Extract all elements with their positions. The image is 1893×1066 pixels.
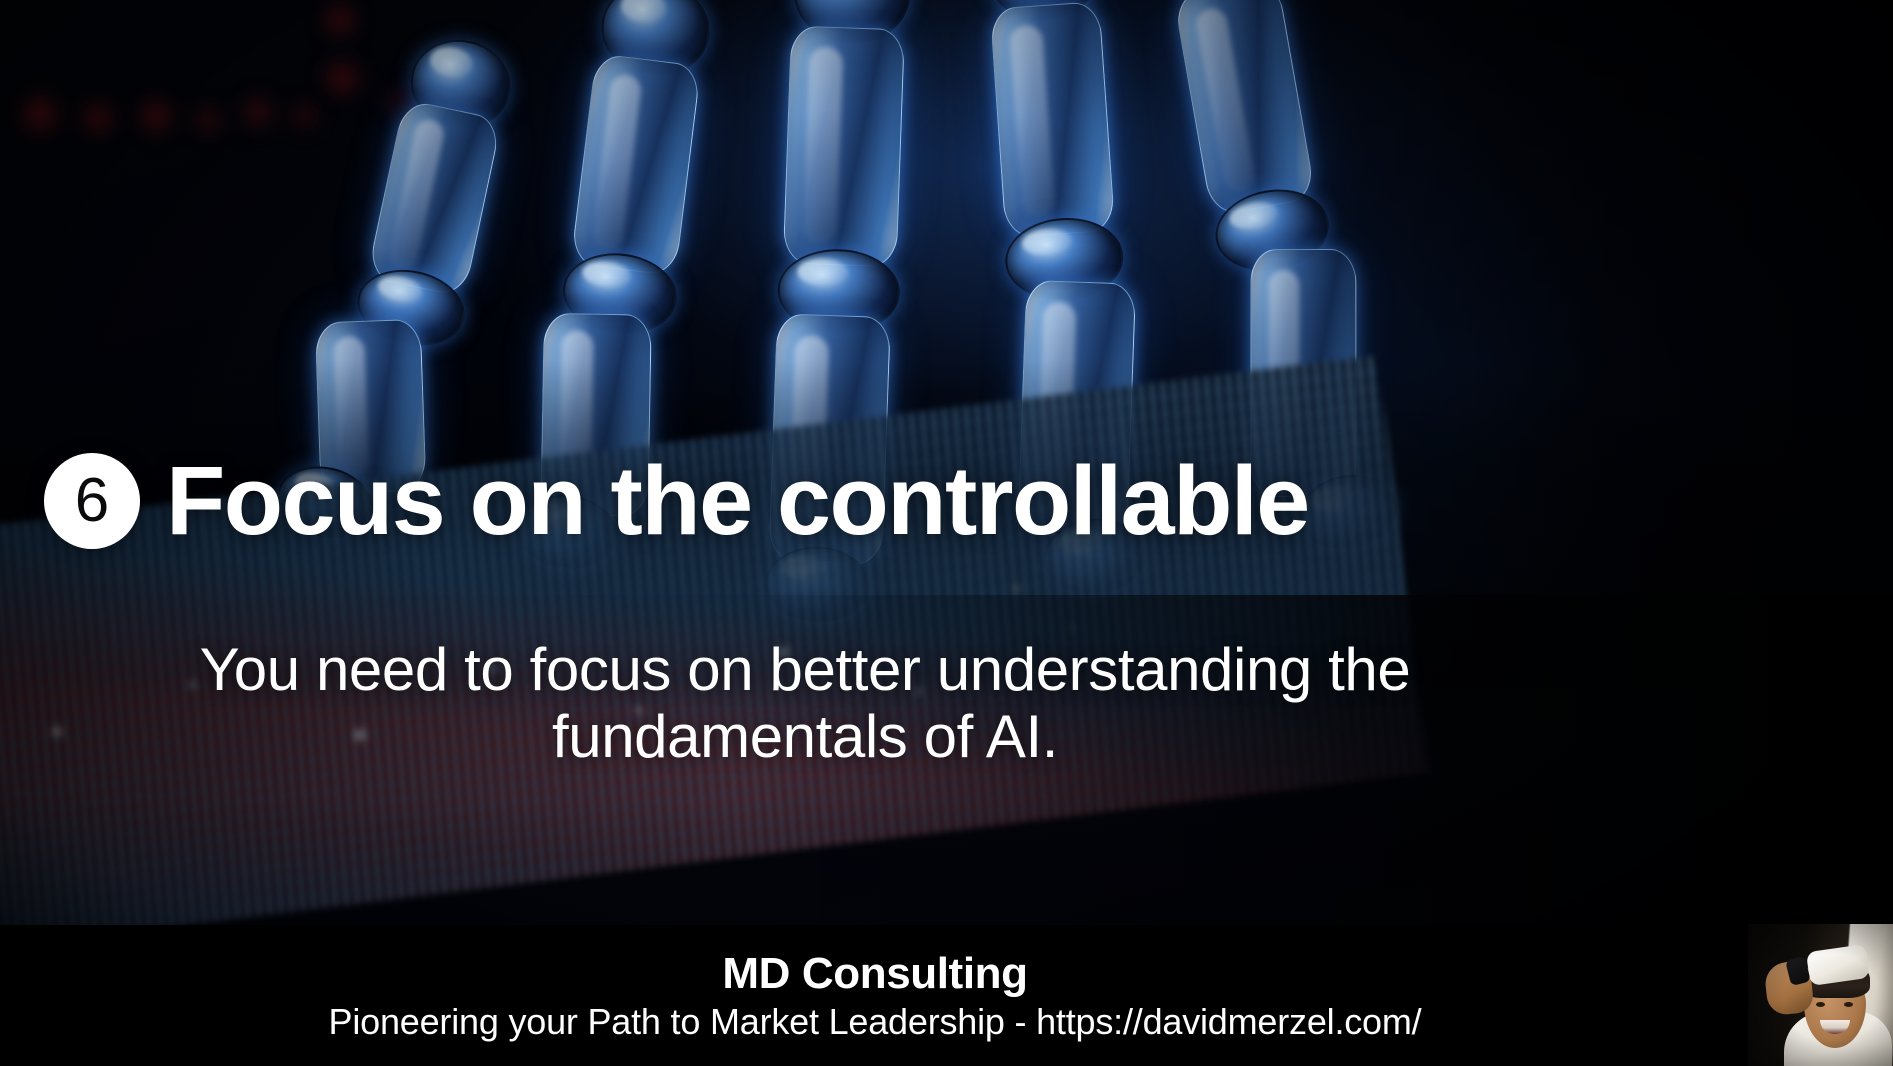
brand-tagline: Pioneering your Path to Market Leadershi… — [329, 1003, 1422, 1041]
avatar-shading — [1748, 924, 1893, 1066]
slide-root: 6 Focus on the controllable You need to … — [0, 0, 1893, 1066]
footer-text-block: MD Consulting Pioneering your Path to Ma… — [0, 925, 1750, 1066]
headline-row: 6 Focus on the controllable — [44, 452, 1804, 549]
avatar — [1748, 924, 1893, 1066]
subtitle-text: You need to focus on better understandin… — [180, 636, 1430, 770]
page-title: Focus on the controllable — [166, 452, 1309, 549]
footer-bar: MD Consulting Pioneering your Path to Ma… — [0, 925, 1893, 1066]
brand-name: MD Consulting — [722, 951, 1027, 997]
step-number-badge: 6 — [44, 453, 140, 549]
